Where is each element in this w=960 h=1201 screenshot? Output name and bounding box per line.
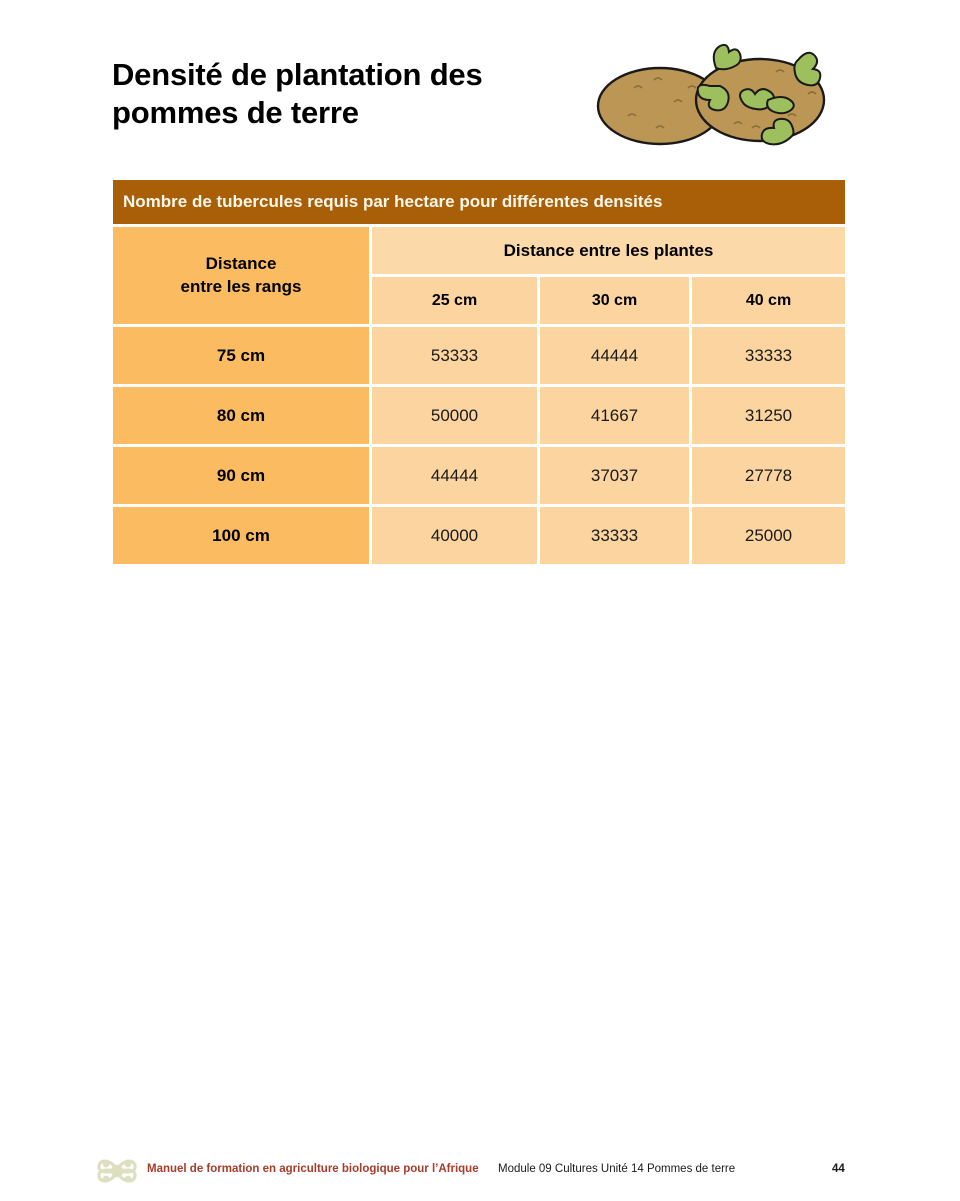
cell-100cm-30cm: 33333 [540, 507, 692, 564]
organization-logo [92, 1148, 142, 1196]
density-table: Nombre de tubercules requis par hectare … [113, 180, 845, 564]
table-row: 100 cm 40000 33333 25000 [113, 507, 845, 564]
cell-80cm-30cm: 41667 [540, 387, 692, 447]
footer-module-unit: Module 09 Cultures Unité 14 Pommes de te… [498, 1163, 735, 1175]
table-header-row-1: Distance entre les rangs Distance entre … [113, 227, 845, 277]
table-row: 90 cm 44444 37037 27778 [113, 447, 845, 507]
density-table-container: Nombre de tubercules requis par hectare … [113, 180, 845, 564]
cell-90cm-40cm: 27778 [692, 447, 845, 507]
column-header-40cm: 40 cm [692, 277, 845, 327]
row-label-100cm: 100 cm [113, 507, 372, 564]
group-header-distance-entre-les-plantes: Distance entre les plantes [372, 227, 845, 277]
row-label-80cm: 80 cm [113, 387, 372, 447]
page-number: 44 [832, 1163, 845, 1175]
table-row: 75 cm 53333 44444 33333 [113, 327, 845, 387]
cell-75cm-30cm: 44444 [540, 327, 692, 387]
cell-90cm-30cm: 37037 [540, 447, 692, 507]
cell-90cm-25cm: 44444 [372, 447, 540, 507]
column-header-25cm: 25 cm [372, 277, 540, 327]
cell-100cm-25cm: 40000 [372, 507, 540, 564]
row-label-75cm: 75 cm [113, 327, 372, 387]
potato-illustration [592, 28, 844, 160]
row-header-line-1: Distance [113, 253, 369, 276]
table-row: 80 cm 50000 41667 31250 [113, 387, 845, 447]
row-label-90cm: 90 cm [113, 447, 372, 507]
footer-manual-title: Manuel de formation en agriculture biolo… [147, 1163, 479, 1175]
cell-100cm-40cm: 25000 [692, 507, 845, 564]
page-title-line-1: Densité de plantation des [112, 56, 582, 94]
cell-80cm-40cm: 31250 [692, 387, 845, 447]
cell-75cm-40cm: 33333 [692, 327, 845, 387]
column-header-30cm: 30 cm [540, 277, 692, 327]
cell-75cm-25cm: 53333 [372, 327, 540, 387]
cell-80cm-25cm: 50000 [372, 387, 540, 447]
row-header-distance-entre-les-rangs: Distance entre les rangs [113, 227, 372, 327]
potato-right-sprouted-icon [696, 45, 824, 144]
slide-canvas: Densité de plantation des pommes de terr… [0, 0, 960, 678]
slide-footer: Manuel de formation en agriculture biolo… [0, 572, 960, 628]
page-title: Densité de plantation des pommes de terr… [112, 56, 582, 132]
table-caption: Nombre de tubercules requis par hectare … [113, 180, 845, 227]
row-header-line-2: entre les rangs [113, 276, 369, 299]
page-title-line-2: pommes de terre [112, 94, 582, 132]
table-caption-row: Nombre de tubercules requis par hectare … [113, 180, 845, 227]
